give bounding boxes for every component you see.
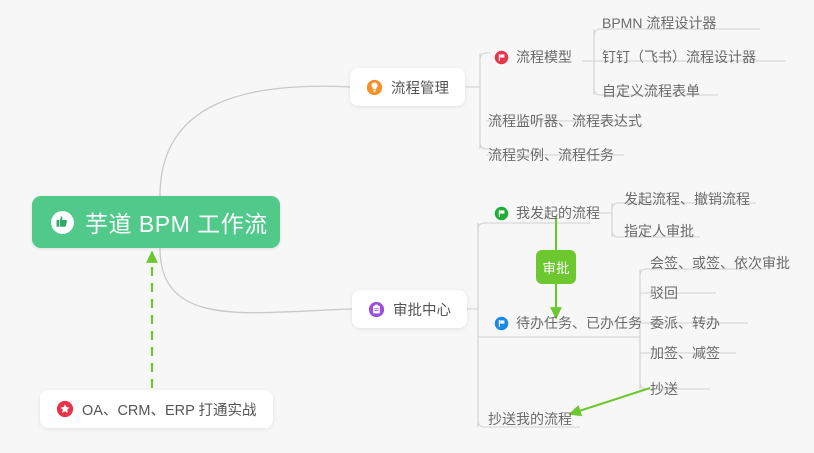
star-icon bbox=[56, 400, 74, 418]
node-cc-to-me[interactable]: 抄送我的流程 bbox=[484, 404, 576, 434]
mindmap-canvas: 芋道 BPM 工作流 流程管理 流程模型 BPMN 流程设计器 钉钉（飞书）流程… bbox=[0, 0, 814, 453]
approval-badge: 审批 bbox=[536, 250, 576, 284]
node-add-remove-sign[interactable]: 加签、减签 bbox=[646, 338, 724, 368]
node-label: 流程管理 bbox=[391, 77, 449, 98]
node-label: 钉钉（飞书）流程设计器 bbox=[602, 47, 756, 67]
node-label: 委派、转办 bbox=[650, 313, 720, 333]
node-todo-done[interactable]: 待办任务、已办任务 bbox=[490, 308, 646, 338]
node-label: 指定人审批 bbox=[624, 221, 694, 241]
node-label: 审批中心 bbox=[393, 299, 451, 320]
clipboard-icon bbox=[368, 301, 385, 318]
node-reject[interactable]: 驳回 bbox=[646, 278, 682, 308]
node-approval-center[interactable]: 审批中心 bbox=[352, 290, 467, 328]
root-node[interactable]: 芋道 BPM 工作流 bbox=[32, 196, 280, 248]
node-label: 驳回 bbox=[650, 283, 678, 303]
node-bpmn-designer[interactable]: BPMN 流程设计器 bbox=[598, 8, 720, 38]
node-my-initiated[interactable]: 我发起的流程 bbox=[490, 198, 604, 228]
lightbulb-icon bbox=[366, 79, 383, 96]
node-label: BPMN 流程设计器 bbox=[602, 13, 716, 33]
node-start-cancel[interactable]: 发起流程、撤销流程 bbox=[620, 184, 754, 214]
node-cc[interactable]: 抄送 bbox=[646, 374, 682, 404]
root-label: 芋道 BPM 工作流 bbox=[85, 205, 268, 239]
flag-icon bbox=[494, 50, 509, 65]
node-label: 发起流程、撤销流程 bbox=[624, 189, 750, 209]
approval-badge-label: 审批 bbox=[543, 257, 570, 277]
node-label: 待办任务、已办任务 bbox=[516, 313, 642, 333]
node-label: 抄送我的流程 bbox=[488, 409, 572, 429]
flag-icon bbox=[494, 206, 509, 221]
node-process-management[interactable]: 流程管理 bbox=[350, 68, 465, 106]
node-countersign[interactable]: 会签、或签、依次审批 bbox=[646, 248, 794, 278]
flag-icon bbox=[494, 316, 509, 331]
node-label: 加签、减签 bbox=[650, 343, 720, 363]
thumbs-up-icon bbox=[50, 210, 75, 235]
node-label: 会签、或签、依次审批 bbox=[650, 253, 790, 273]
node-label: OA、CRM、ERP 打通实战 bbox=[82, 399, 257, 420]
node-custom-form[interactable]: 自定义流程表单 bbox=[598, 76, 704, 106]
node-label: 流程实例、流程任务 bbox=[488, 145, 614, 165]
node-process-instance[interactable]: 流程实例、流程任务 bbox=[484, 140, 618, 170]
node-label: 我发起的流程 bbox=[516, 203, 600, 223]
node-integration-practice[interactable]: OA、CRM、ERP 打通实战 bbox=[40, 390, 273, 428]
cc-flow-arrow bbox=[570, 388, 650, 414]
node-label: 自定义流程表单 bbox=[602, 81, 700, 101]
node-dingtalk-designer[interactable]: 钉钉（飞书）流程设计器 bbox=[598, 42, 760, 72]
node-label: 抄送 bbox=[650, 379, 678, 399]
node-assignee-approval[interactable]: 指定人审批 bbox=[620, 216, 698, 246]
node-delegate[interactable]: 委派、转办 bbox=[646, 308, 724, 338]
node-process-listener[interactable]: 流程监听器、流程表达式 bbox=[484, 106, 646, 136]
node-label: 流程监听器、流程表达式 bbox=[488, 111, 642, 131]
node-label: 流程模型 bbox=[516, 47, 572, 67]
node-process-model[interactable]: 流程模型 bbox=[490, 42, 576, 72]
